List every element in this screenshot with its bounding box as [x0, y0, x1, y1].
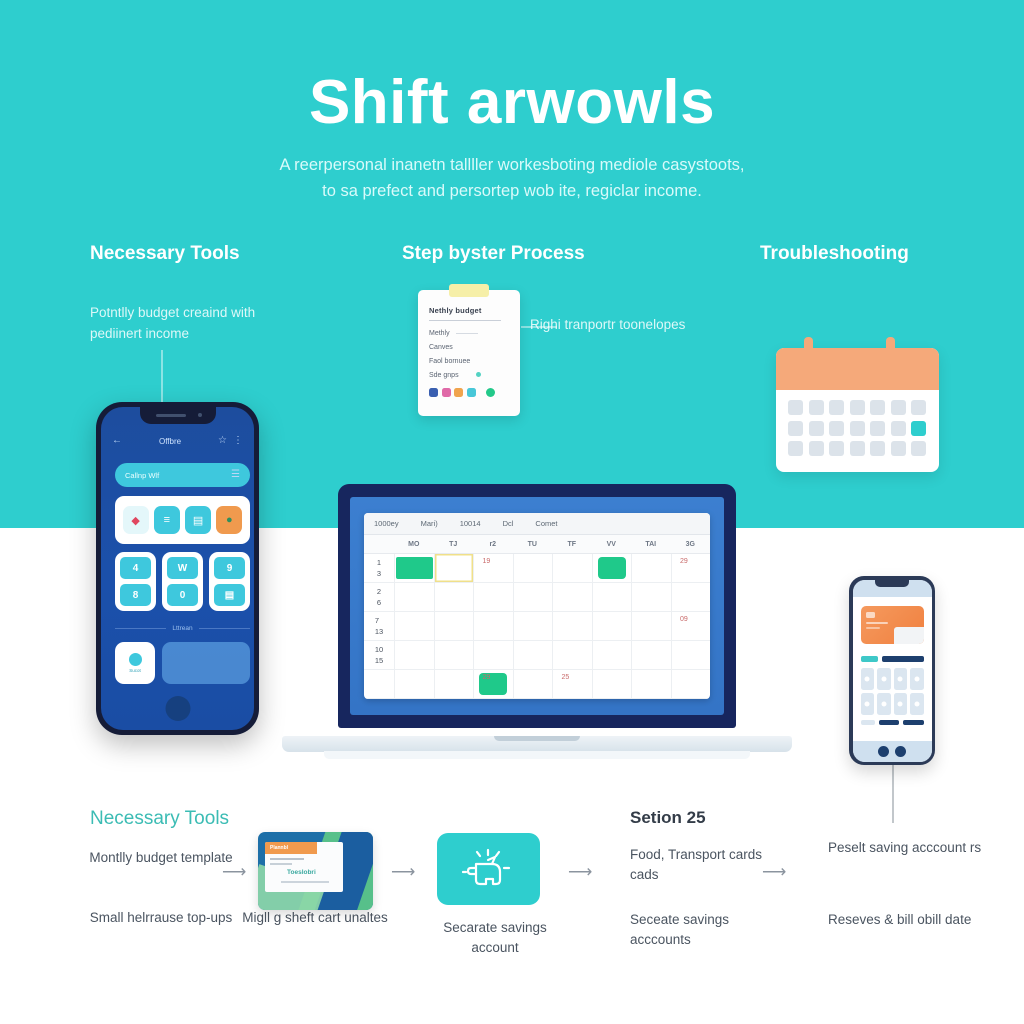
phone-secondary-grid-cell[interactable]: [894, 693, 908, 715]
calendar-cell[interactable]: [592, 583, 632, 611]
calendar-icon-cell: [850, 421, 865, 436]
calendar-app-window: 1000eyMari)10014DclComet MOTJr2TUTFVVTAI…: [364, 513, 710, 699]
phone-tile-button[interactable]: 8: [120, 584, 151, 606]
piggy-bank-glyph: [462, 848, 516, 890]
card-chip-icon: [866, 612, 875, 618]
calendar-icon-header: [776, 348, 939, 390]
phone-secondary-home-bar: [853, 741, 932, 762]
phone-camera-icon: [198, 413, 202, 417]
phone-secondary-footer-row: [861, 720, 924, 725]
phone-tile-grid: 48W09▤: [115, 552, 250, 611]
calendar-week-row: 2 6: [364, 583, 710, 612]
calendar-cell[interactable]: [671, 583, 711, 611]
savings-icon[interactable]: ●: [216, 506, 242, 534]
calendar-cell[interactable]: [434, 554, 474, 582]
calendar-cell[interactable]: 25: [552, 670, 592, 698]
card-line-secondary: [866, 627, 880, 629]
clipboard-line-text: Methly: [429, 330, 450, 337]
divider-line-right: [199, 628, 250, 629]
calendar-icon-cell: [891, 400, 906, 415]
calendar-icon-cell: [788, 441, 803, 456]
calendar-event-block[interactable]: [598, 557, 626, 578]
laptop-lid: 1000eyMari)10014DclComet MOTJr2TUTFVVTAI…: [338, 484, 736, 728]
calendar-cell[interactable]: [434, 612, 474, 640]
clipboard-color-dot-icon: [429, 388, 438, 397]
card-fold-shape: [894, 627, 924, 644]
calendar-icon-cell: [788, 400, 803, 415]
calendar-toolbar-item[interactable]: Dcl: [503, 519, 514, 528]
calendar-cell[interactable]: 29: [473, 670, 513, 698]
home-dot-icon[interactable]: [895, 746, 906, 757]
calendar-date-number: 29: [680, 558, 688, 565]
calendar-cell[interactable]: [513, 670, 553, 698]
clipboard-title: Nethly budget: [429, 306, 482, 315]
calendar-icon-cell: [870, 421, 885, 436]
card-line-primary: [866, 622, 888, 624]
page-subtitle: A reerpersonal inanetn tallller workesbo…: [0, 153, 1024, 204]
phone-secondary-grid-cell[interactable]: [861, 668, 875, 690]
calendar-icon-cell: [809, 400, 824, 415]
clipboard-line-rule: [456, 333, 478, 334]
calendar-cell[interactable]: [473, 641, 513, 669]
calendar-day-header: TU: [513, 541, 553, 548]
laptop-screen: 1000eyMari)10014DclComet MOTJr2TUTFVVTAI…: [350, 497, 724, 715]
flow-arrow-icon: ⟶: [762, 863, 786, 880]
calendar-cell[interactable]: [631, 670, 671, 698]
phone-primary-screen: ← Offbre ☆ ⋮ Callnp Wlf ☰ ◆≡▤● 48W09▤ Lt…: [101, 407, 254, 730]
phone-tile-button[interactable]: 0: [167, 584, 198, 606]
clipboard-illustration: Nethly budget Methly Canves Faol bornuee…: [418, 290, 520, 416]
calendar-icon-cell: [911, 441, 926, 456]
home-dot-icon[interactable]: [878, 746, 889, 757]
flow-step-label: Secarate savings account: [420, 918, 570, 959]
flow-step-label: Small helrrause top-ups: [86, 908, 236, 928]
section-heading-necessary-tools: Necessary Tools: [90, 243, 240, 265]
clipboard-line-item: Faol bornuee: [429, 358, 470, 365]
card-text-line: [270, 858, 304, 860]
connector-line-clipboard: [521, 326, 557, 328]
calendar-row-label: 7 13: [364, 612, 394, 640]
phone-tile-column: 9▤: [209, 552, 250, 611]
connector-line-phone-one: [161, 350, 163, 410]
flow-arrow-icon: ⟶: [222, 863, 246, 880]
wallet-icon[interactable]: ◆: [123, 506, 149, 534]
calendar-day-headers: MOTJr2TUTFVVTAI3G: [364, 535, 710, 554]
calendar-cell[interactable]: [631, 641, 671, 669]
search-input-value: Callnp Wlf: [125, 471, 231, 480]
calendar-cell[interactable]: [552, 641, 592, 669]
section-heading-troubleshooting: Troubleshooting: [760, 243, 909, 265]
phone-tile-column: 48: [115, 552, 156, 611]
calendar-toolbar-item[interactable]: 10014: [460, 519, 481, 528]
phone-secondary-heading-row: [861, 656, 924, 662]
calendar-ring-icon: [886, 337, 895, 360]
clipboard-line-item: Canves: [429, 344, 453, 351]
calendar-grid: 1 319292 67 130910 152925: [364, 554, 710, 699]
calendar-row-label: [364, 670, 394, 698]
footer-bar-medium: [879, 720, 900, 725]
clipboard-small-dot-icon: [476, 372, 481, 377]
calendar-cell[interactable]: [394, 554, 434, 582]
accent-bar-icon: [861, 656, 878, 662]
flow-arrow-icon: ⟶: [568, 863, 592, 880]
calendar-icon-cell: [870, 400, 885, 415]
calendar-day-header: 3G: [671, 541, 711, 548]
calendar-date-number: 25: [561, 674, 569, 681]
calendar-cell[interactable]: [473, 612, 513, 640]
flow-step-label: Reseves & bill obill date: [828, 910, 988, 930]
laptop-mockup: 1000eyMari)10014DclComet MOTJr2TUTFVVTAI…: [282, 484, 792, 764]
calendar-icon-cell: [911, 400, 926, 415]
phone-tile-button[interactable]: ▤: [214, 584, 245, 606]
calendar-toolbar-item[interactable]: 1000ey: [374, 519, 399, 528]
calendar-icon-cell: [911, 421, 926, 436]
calendar-event-block[interactable]: [396, 557, 433, 578]
clipboard-color-dot-icon: [467, 388, 476, 397]
calendar-icon-cell: [850, 400, 865, 415]
clipboard-color-dot-icon: [442, 388, 451, 397]
budget-card-illustration: Plannbl Toeslobri: [258, 832, 373, 910]
card-paper-header: Plannbl: [265, 842, 317, 854]
back-arrow-icon[interactable]: ←: [112, 436, 122, 446]
calendar-toolbar-item[interactable]: Mari): [421, 519, 438, 528]
calendar-cell[interactable]: [552, 554, 592, 582]
page-title: Shift arwowls: [0, 70, 1024, 135]
calendar-week-row: 10 15: [364, 641, 710, 670]
flow-title: Necessary Tools: [90, 808, 229, 830]
calendar-row-label: 2 6: [364, 583, 394, 611]
calendar-day-header: TJ: [434, 541, 474, 548]
calendar-cell[interactable]: [434, 641, 474, 669]
calendar-row-label: 10 15: [364, 641, 394, 669]
calendar-cell[interactable]: [592, 670, 632, 698]
calendar-cell[interactable]: [592, 612, 632, 640]
calendar-app-toolbar: 1000eyMari)10014DclComet: [364, 513, 710, 535]
phone-secondary-grid-cell[interactable]: [861, 693, 875, 715]
calendar-icon-cell: [788, 421, 803, 436]
calendar-icon-cell: [891, 441, 906, 456]
phone-secondary-grid-cell[interactable]: [910, 693, 924, 715]
calendar-date-number: 19: [482, 558, 490, 565]
phone-tile-button[interactable]: 4: [120, 557, 151, 579]
divider-line-left: [115, 628, 166, 629]
calendar-cell[interactable]: [513, 554, 553, 582]
phone-secondary-screen: [853, 580, 932, 762]
card-header-text: Plannbl: [270, 845, 288, 851]
calendar-day-header: r2: [473, 541, 513, 548]
calendar-cell[interactable]: 19: [473, 554, 513, 582]
calendar-cell[interactable]: [394, 641, 434, 669]
phone-secondary-grid-cell[interactable]: [877, 693, 891, 715]
phone-secondary-notch: [875, 580, 909, 587]
calendar-row-label: 1 3: [364, 554, 394, 582]
phone-mockup-primary: ← Offbre ☆ ⋮ Callnp Wlf ☰ ◆≡▤● 48W09▤ Lt…: [96, 402, 259, 735]
calendar-icon-cell: [891, 421, 906, 436]
calendar-cell[interactable]: 09: [671, 612, 711, 640]
flow-arrow-icon: ⟶: [391, 863, 415, 880]
phone-bottom-card[interactable]: Sucot: [115, 642, 155, 684]
phone-bottom-caption: Sucot: [129, 668, 141, 673]
phone-secondary-grid-cell[interactable]: [894, 668, 908, 690]
calendar-cell[interactable]: [434, 670, 474, 698]
calendar-icon-cell: [809, 441, 824, 456]
page-subtitle-line-2: to sa prefect and persortep wob ite, reg…: [0, 179, 1024, 205]
filter-icon[interactable]: ☰: [231, 470, 240, 480]
phone-bottom-panel[interactable]: [162, 642, 250, 684]
calendar-cell[interactable]: [552, 612, 592, 640]
page-subtitle-line-1: A reerpersonal inanetn tallller workesbo…: [0, 153, 1024, 179]
calendar-cell[interactable]: [394, 583, 434, 611]
calendar-icon-cell: [809, 421, 824, 436]
list-icon[interactable]: ≡: [154, 506, 180, 534]
phone-app-shortcut-row: ◆≡▤●: [115, 496, 250, 544]
calendar-week-row: 1 31929: [364, 554, 710, 583]
calendar-cell[interactable]: [671, 641, 711, 669]
clipboard-check-dot-icon: [486, 388, 495, 397]
clipboard-clip: [449, 284, 489, 297]
calendar-date-number: 09: [680, 616, 688, 623]
flow-step-label: Migll g sheft cart unaltes: [240, 908, 390, 928]
calendar-date-number: 29: [482, 674, 490, 681]
phone-secondary-card-grid: [861, 668, 924, 715]
footer-bar-small: [861, 720, 875, 725]
connector-line-phone-two: [892, 765, 894, 823]
calendar-cell[interactable]: [513, 583, 553, 611]
calendar-icon: [776, 348, 939, 472]
phone-section-divider: Lttrean: [115, 625, 250, 632]
calendar-cell[interactable]: [592, 554, 632, 582]
card-text-line: [270, 863, 292, 865]
clipboard-divider: [429, 320, 501, 321]
calendar-ring-icon: [804, 337, 813, 360]
phone-secondary-grid-cell[interactable]: [910, 668, 924, 690]
phone-secondary-grid-cell[interactable]: [877, 668, 891, 690]
clipboard-line-item: Sde gnps: [429, 372, 459, 379]
clipboard-line-item: Methly: [429, 330, 478, 337]
calendar-day-header: TAI: [631, 541, 671, 548]
card-text-line: [281, 881, 329, 883]
phone-secondary-status-bar: [853, 580, 932, 597]
flow-step-label: Montlly budget template: [86, 848, 236, 868]
clipboard-color-dot-icon: [454, 388, 463, 397]
clipboard-color-dots: [429, 388, 476, 397]
calendar-cell[interactable]: [473, 583, 513, 611]
phone-bottom-row: Sucot: [115, 642, 250, 684]
laptop-base: [282, 736, 792, 752]
phone-divider-label: Lttrean: [172, 625, 192, 632]
phone-speaker-icon: [156, 414, 186, 417]
phone-app-title: Offbre: [128, 437, 212, 446]
section-heading-step-by-step-process: Step byster Process: [402, 243, 585, 265]
phone-mockup-secondary: [849, 576, 935, 765]
card-paper-sheet: Plannbl Toeslobri: [265, 842, 343, 892]
calendar-cell[interactable]: [671, 670, 711, 698]
calendar-cell[interactable]: 29: [671, 554, 711, 582]
phone-notch: [140, 407, 216, 424]
calendar-toolbar-item[interactable]: Comet: [535, 519, 557, 528]
phone-app-bar: ← Offbre ☆ ⋮: [101, 429, 254, 453]
phone-home-button[interactable]: [165, 696, 190, 721]
calendar-week-row: 2925: [364, 670, 710, 699]
flow-step-label: Peselt saving acccount rs: [828, 838, 988, 858]
flow-section-label: Setion 25: [630, 808, 706, 828]
piggy-bank-icon: [437, 833, 540, 905]
phone-tile-button[interactable]: 9: [214, 557, 245, 579]
infographic-canvas: Shift arwowls A reerpersonal inanetn tal…: [0, 0, 1024, 1024]
flow-step-label: Seceate savings acccounts: [630, 910, 790, 951]
credit-card-illustration: [861, 606, 924, 644]
calendar-cell[interactable]: [394, 612, 434, 640]
calendar-cell[interactable]: [394, 670, 434, 698]
calendar-icon-cell: [850, 441, 865, 456]
card-brand-text: Toeslobri: [287, 869, 316, 876]
calendar-icon-cell: [829, 421, 844, 436]
calendar-day-header: TF: [552, 541, 592, 548]
footer-bar-medium: [903, 720, 924, 725]
calendar-cell[interactable]: [552, 583, 592, 611]
calendar-week-row: 7 1309: [364, 612, 710, 641]
more-vertical-icon[interactable]: ⋮: [233, 436, 243, 446]
calendar-cell[interactable]: [434, 583, 474, 611]
calendar-icon-cell: [829, 441, 844, 456]
calendar-cell[interactable]: [513, 641, 553, 669]
calendar-cell[interactable]: [631, 583, 671, 611]
calendar-cell[interactable]: [631, 554, 671, 582]
calendar-day-header: MO: [394, 541, 434, 548]
laptop-foot: [324, 751, 750, 759]
circle-badge-icon: [129, 653, 142, 666]
calendar-cell[interactable]: [513, 612, 553, 640]
title-bar-placeholder: [882, 656, 924, 662]
calendar-icon-cell: [829, 400, 844, 415]
search-input[interactable]: Callnp Wlf ☰: [115, 463, 250, 487]
calendar-day-header: VV: [592, 541, 632, 548]
bell-icon[interactable]: ☆: [218, 436, 227, 446]
laptop-base-notch: [494, 736, 580, 741]
hero-block: Shift arwowls A reerpersonal inanetn tal…: [0, 70, 1024, 204]
calendar-icon-grid: [788, 400, 926, 456]
phone-tile-column: W0: [162, 552, 203, 611]
phone-tile-button[interactable]: W: [167, 557, 198, 579]
calendar-icon-cell: [870, 441, 885, 456]
calendar-cell[interactable]: [631, 612, 671, 640]
calendar-cell[interactable]: [592, 641, 632, 669]
section-note-necessary-tools: Potntlly budget creaind with pediinert i…: [90, 303, 290, 345]
document-icon[interactable]: ▤: [185, 506, 211, 534]
